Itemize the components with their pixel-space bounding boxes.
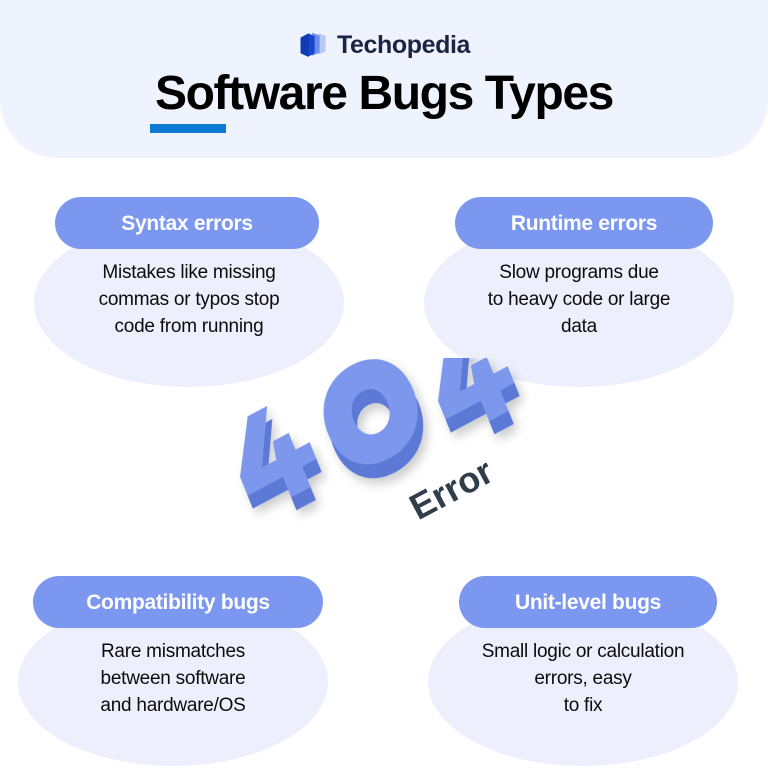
- techopedia-layers-icon: [298, 31, 328, 59]
- brand-name: Techopedia: [337, 33, 470, 58]
- card-title-pill: Unit-level bugs: [459, 576, 717, 628]
- card-title-pill: Runtime errors: [455, 197, 713, 249]
- card-description: Mistakes like missing commas or typos st…: [34, 260, 344, 341]
- card-title: Syntax errors: [121, 213, 253, 234]
- title-accent-rule: [150, 124, 226, 133]
- card-title-pill: Compatibility bugs: [33, 576, 323, 628]
- infographic-canvas: Techopedia Software Bugs Types Syntax er…: [0, 0, 768, 776]
- digit-four-right: [419, 358, 528, 453]
- card-title: Compatibility bugs: [86, 592, 270, 613]
- card-description: Rare mismatches between software and har…: [18, 639, 328, 720]
- error-word: Error: [403, 450, 500, 528]
- card-description: Small logic or calculation errors, easy …: [428, 639, 738, 720]
- card-title-pill: Syntax errors: [55, 197, 319, 249]
- card-title: Runtime errors: [511, 213, 657, 234]
- digit-zero: [309, 358, 437, 495]
- digit-four-left: [221, 394, 330, 529]
- error-404-illustration: Error: [214, 358, 554, 558]
- card-title: Unit-level bugs: [515, 592, 661, 613]
- card-description: Slow programs due to heavy code or large…: [424, 260, 734, 341]
- page-title: Software Bugs Types: [0, 68, 768, 120]
- brand-lockup: Techopedia: [0, 31, 768, 59]
